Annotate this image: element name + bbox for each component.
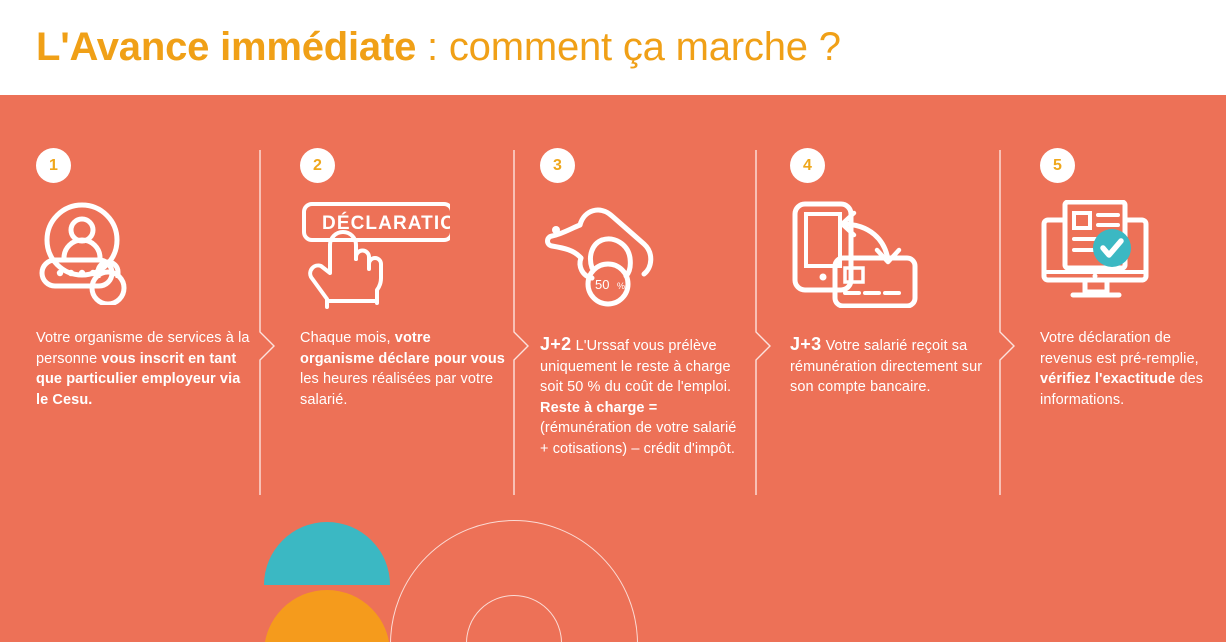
chevron-divider-3 (754, 150, 774, 495)
declaration-button-hand-icon: DÉCLARATION (300, 200, 440, 310)
step-1-text: Votre organisme de services à la personn… (36, 328, 251, 410)
step-4-lead: J+3 (790, 334, 821, 354)
steps-container: 1 Votre organisme de services à la perso… (0, 95, 1226, 642)
step-5-text-part-2: vérifiez l'exactitude (1040, 371, 1175, 387)
step-1-badge: 1 (36, 148, 71, 183)
step-5: 5 Votre déclaration de revenus est pré-r… (1040, 95, 1226, 642)
step-2-text: Chaque mois, votre organisme déclare pou… (300, 328, 505, 410)
step-2-badge: 2 (300, 148, 335, 183)
step-4: 4 J+3 Votre salarié reçoit sa rémunérati… (790, 95, 995, 642)
smartphone-bank-card-transfer-icon (790, 200, 930, 310)
chevron-divider-1 (258, 150, 278, 495)
step-3-text-part-3: (rémunération de votre salarié + cotisat… (540, 420, 736, 457)
step-5-text-part-1: Votre déclaration de revenus est pré-rem… (1040, 330, 1199, 367)
header-bar: L'Avance immédiate : comment ça marche ? (0, 0, 1226, 95)
step-5-text: Votre déclaration de revenus est pré-rem… (1040, 328, 1226, 410)
step-3-text: J+2 L'Urssaf vous prélève uniquement le … (540, 334, 740, 459)
step-3-badge: 3 (540, 148, 575, 183)
step-3-lead: J+2 (540, 334, 571, 354)
step-2: 2 DÉCLARATION Chaque mois, votre organis… (300, 95, 510, 642)
hand-coin-fifty-percent-icon: 50 % (540, 200, 680, 310)
step-2-text-part-3: les heures réalisées par votre salarié. (300, 371, 493, 408)
page-title-rest: : comment ça marche ? (416, 25, 841, 69)
infographic-panel: 1 Votre organisme de services à la perso… (0, 95, 1226, 642)
step-1: 1 Votre organisme de services à la perso… (36, 95, 254, 642)
step-3-text-part-2: Reste à charge = (540, 400, 657, 416)
page-title: L'Avance immédiate : comment ça marche ? (36, 23, 841, 71)
step-5-badge: 5 (1040, 148, 1075, 183)
step-2-text-part-1: Chaque mois, (300, 330, 395, 346)
chevron-divider-4 (998, 150, 1018, 495)
monitor-document-check-icon (1040, 200, 1180, 310)
step-4-badge: 4 (790, 148, 825, 183)
step-3: 3 50 % J+2 L'Urssaf vous prélève uniquem… (540, 95, 740, 642)
coin-percent-suffix: % (617, 281, 625, 291)
chevron-divider-2 (512, 150, 532, 495)
step-4-text: J+3 Votre salarié reçoit sa rémunération… (790, 334, 995, 398)
coin-percent-label: 50 (595, 277, 609, 292)
user-password-lock-icon (36, 200, 176, 310)
page-title-bold: L'Avance immédiate (36, 25, 416, 69)
